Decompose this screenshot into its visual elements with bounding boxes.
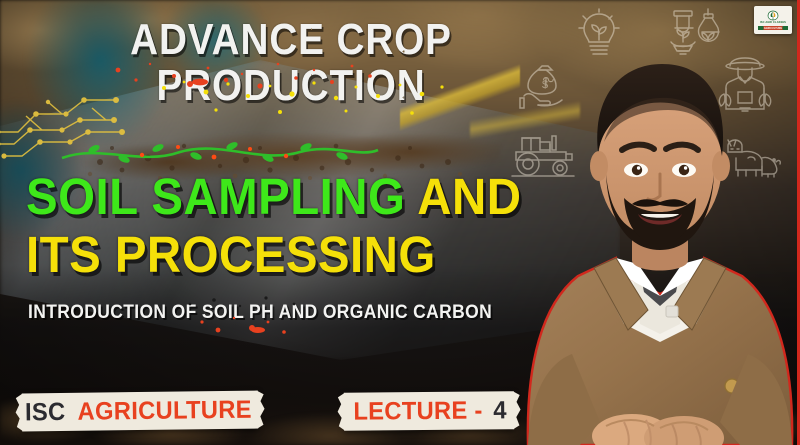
subtitle-speckles (170, 292, 370, 336)
main-title-part-green: SOIL SAMPLING (26, 168, 417, 225)
main-title-part-yellow: AND (417, 168, 521, 225)
youtube-thumbnail: $ (0, 0, 800, 445)
main-title-line1: SOIL SAMPLING AND (26, 170, 521, 224)
channel-name-badge[interactable]: ISC AGRICULTURE (22, 391, 258, 432)
channel-prefix: ISC (25, 399, 66, 425)
series-title-line1: ADVANCE CROP (35, 16, 547, 64)
lecture-number-badge[interactable]: LECTURE - 4 (344, 391, 514, 430)
lecture-number: 4 (494, 397, 508, 423)
main-title-line2: ITS PROCESSING (26, 228, 436, 282)
channel-name: AGRICULTURE (77, 397, 252, 425)
series-title-line2: PRODUCTION (35, 62, 547, 110)
lecture-label: LECTURE - (354, 398, 483, 425)
title-text-layer: ADVANCE CROP PRODUCTION (0, 0, 800, 445)
